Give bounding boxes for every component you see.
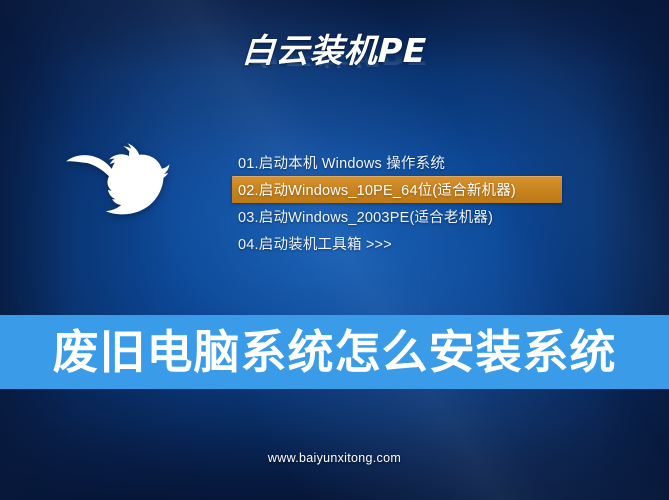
boot-menu-item-03[interactable]: 03.启动Windows_2003PE(适合老机器) (232, 203, 562, 230)
boot-menu-list[interactable]: 01.启动本机 Windows 操作系统 02.启动Windows_10PE_6… (232, 149, 562, 257)
brand-logo-text: 白云装机PE (241, 34, 427, 67)
headline-text: 废旧电脑系统怎么安装系统 (53, 329, 617, 375)
brand-logo: 白云装机PE 白云装机PE (0, 34, 669, 101)
boot-menu-screen: 白云装机PE 白云装机PE 01.启动本机 Windows 操作系统 02.启动… (0, 0, 669, 500)
boot-menu-item-04[interactable]: 04.启动装机工具箱 >>> (232, 230, 562, 257)
footer: www.baiyunxitong.com (0, 449, 669, 467)
footer-website-url: www.baiyunxitong.com (268, 451, 401, 465)
bird-icon (66, 142, 170, 224)
headline-banner: 废旧电脑系统怎么安装系统 (0, 315, 669, 389)
boot-menu-item-02[interactable]: 02.启动Windows_10PE_64位(适合新机器) (232, 176, 562, 203)
boot-menu-item-01[interactable]: 01.启动本机 Windows 操作系统 (232, 149, 562, 176)
